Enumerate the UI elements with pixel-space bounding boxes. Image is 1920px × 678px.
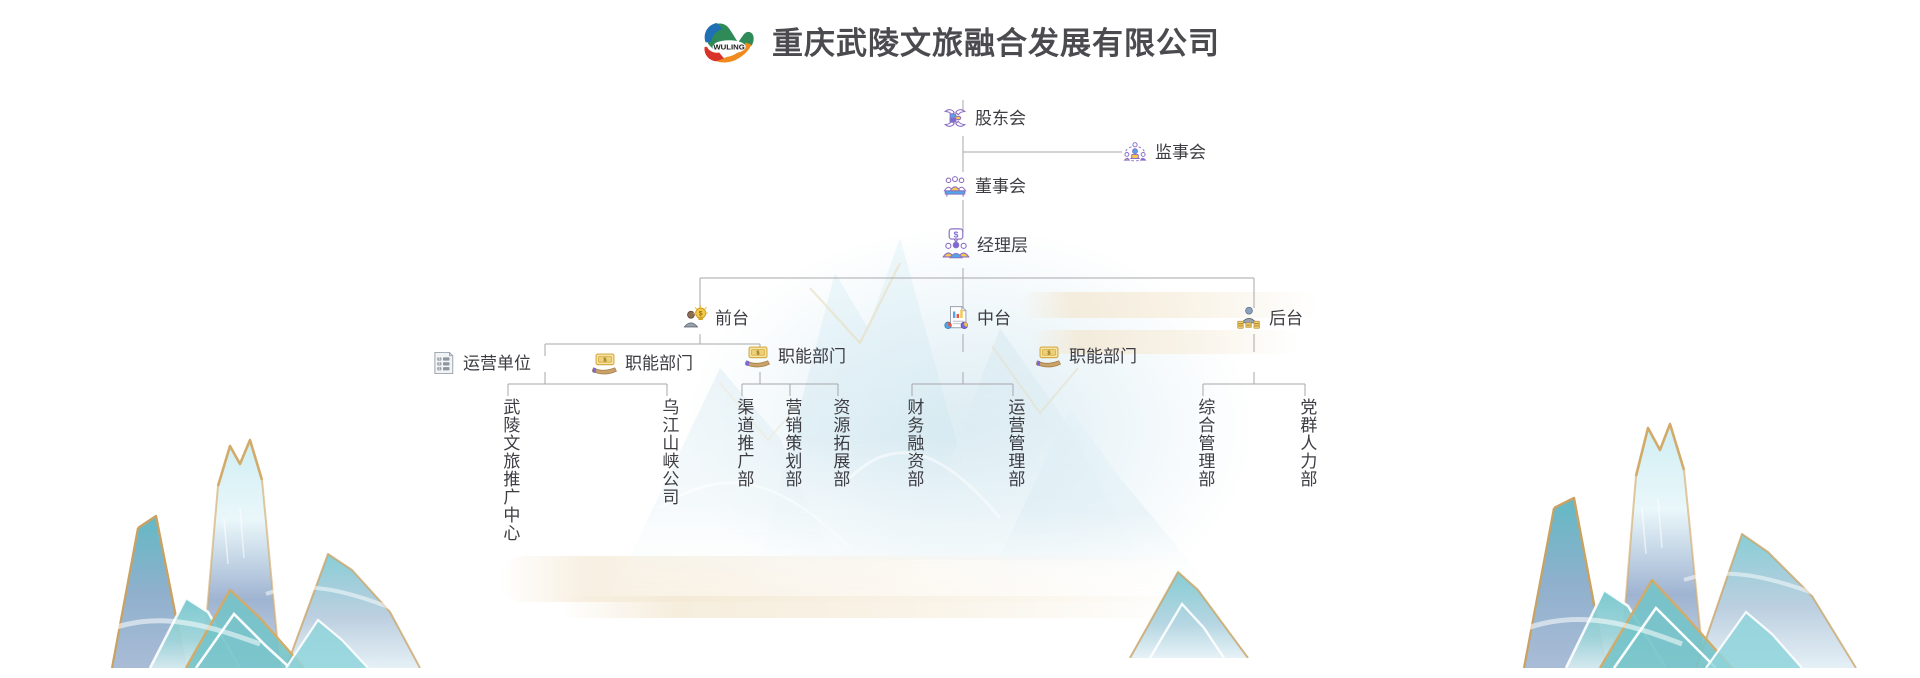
people-group-icon [1122, 139, 1148, 165]
node-label: 职能部门 [778, 348, 846, 365]
node-label: 职能部门 [625, 355, 693, 372]
node-label: 前台 [715, 310, 749, 327]
svg-text:$: $ [699, 311, 703, 318]
leaf-general-management-dept[interactable]: 综合管理部 [1195, 398, 1213, 488]
node-functional-dept-front[interactable]: $ 职能部门 [592, 350, 693, 376]
node-label: 中台 [977, 310, 1011, 327]
node-board-of-directors[interactable]: 董事会 [942, 173, 1026, 199]
leaf-wuling-promotion-center[interactable]: 武陵文旅推广中心 [500, 398, 518, 542]
leaf-channel-promotion-dept[interactable]: 渠道推广部 [734, 398, 752, 488]
svg-text:$: $ [438, 362, 440, 366]
node-functional-dept-back[interactable]: $ 职能部门 [1036, 343, 1137, 369]
node-supervisors[interactable]: 监事会 [1122, 139, 1206, 165]
node-label: 经理层 [977, 237, 1028, 254]
node-shareholders[interactable]: 股东会 [942, 105, 1026, 131]
node-label: 监事会 [1155, 144, 1206, 161]
boardroom-people-icon [942, 173, 968, 199]
svg-text:$: $ [954, 229, 959, 239]
svg-text:$: $ [438, 367, 440, 371]
person-coins-icon [1236, 305, 1262, 331]
leaf-operations-management-dept[interactable]: 运营管理部 [1005, 398, 1023, 488]
node-label: 职能部门 [1069, 348, 1137, 365]
page-title: 重庆武陵文旅融合发展有限公司 [772, 28, 1220, 59]
node-operating-unit[interactable]: $ $ $ 运营单位 [430, 350, 531, 376]
org-chart-canvas: WULING 重庆武陵文旅融合发展有限公司 [0, 0, 1920, 678]
hand-money-icon: $ [592, 350, 618, 376]
node-label: 运营单位 [463, 355, 531, 372]
leaf-party-hr-dept[interactable]: 党群人力部 [1297, 398, 1315, 488]
node-label: 董事会 [975, 178, 1026, 195]
dollar-team-icon: $ [942, 228, 970, 262]
page-header: WULING 重庆武陵文旅融合发展有限公司 [0, 18, 1920, 68]
node-label: 股东会 [975, 110, 1026, 127]
hand-money-icon: $ [1036, 343, 1062, 369]
person-idea-icon: $ [682, 305, 708, 331]
node-middle-office[interactable]: 中台 [944, 305, 1011, 331]
node-functional-dept-middle[interactable]: $ 职能部门 [745, 343, 846, 369]
leaf-finance-financing-dept[interactable]: 财务融资部 [904, 398, 922, 488]
node-management[interactable]: $ 经理层 [942, 228, 1028, 262]
leaf-wujiang-gorge-company[interactable]: 乌江山峡公司 [659, 398, 677, 506]
logo-wordmark: WULING [713, 43, 745, 52]
node-back-office[interactable]: 后台 [1236, 305, 1303, 331]
puzzle-handshake-icon [942, 105, 968, 131]
hand-money-icon: $ [745, 343, 771, 369]
leaf-resource-development-dept[interactable]: 资源拓展部 [830, 398, 848, 488]
node-front-office[interactable]: $ 前台 [682, 305, 749, 331]
report-chart-icon [944, 305, 970, 331]
node-label: 后台 [1269, 310, 1303, 327]
ledger-money-icon: $ $ $ [430, 350, 456, 376]
svg-text:$: $ [438, 357, 440, 361]
wuling-mountain-logo: WULING [700, 18, 756, 68]
connector-lines [0, 0, 1920, 678]
leaf-marketing-planning-dept[interactable]: 营销策划部 [782, 398, 800, 488]
